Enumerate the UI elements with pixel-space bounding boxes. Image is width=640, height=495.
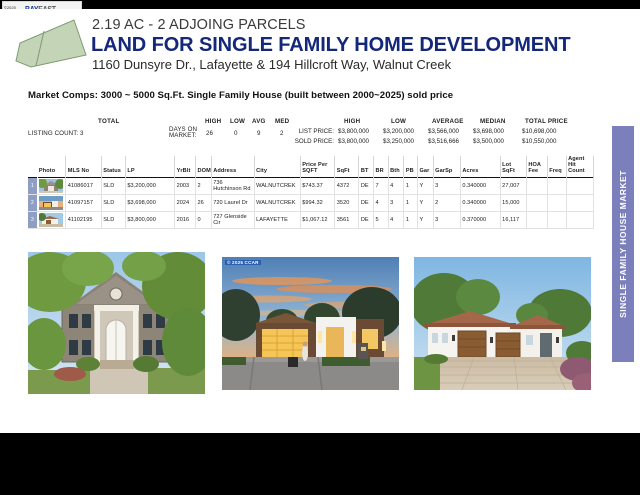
col-city[interactable]: City: [254, 156, 300, 177]
dom-header-low: LOW: [230, 118, 245, 125]
cell-yrblt: 2016: [175, 211, 196, 228]
col-bt[interactable]: BT: [359, 156, 374, 177]
dom-header-med: MED: [275, 118, 289, 125]
dom-value-avg: 9: [257, 130, 260, 137]
cell-sqft: 3520: [335, 194, 359, 211]
col-price-per-sqft[interactable]: Price Per SQFT: [300, 156, 335, 177]
row-thumbnail[interactable]: [37, 211, 65, 228]
cell-mls-no: 41097157: [66, 194, 102, 211]
page-title: LAND FOR SINGLE FAMILY HOME DEVELOPMENT: [91, 34, 570, 57]
cell-price-per-sqft: $994.32: [300, 194, 335, 211]
col-br[interactable]: BR: [373, 156, 388, 177]
cell-mls-no: 41086017: [66, 177, 102, 194]
cell-pb: 1: [404, 177, 418, 194]
list-price-median: $3,698,000: [473, 128, 504, 135]
listing-count: LISTING COUNT: 3: [28, 130, 84, 137]
cell-hoa-fee: [526, 211, 547, 228]
table-row[interactable]: 141086017SLD$3,200,00020032736 Hutchinso…: [28, 177, 594, 194]
col-mls-no[interactable]: MLS No: [66, 156, 102, 177]
price-header-low: LOW: [391, 118, 406, 125]
cell-agent-hit-count: [566, 177, 593, 194]
dom-value-med: 2: [280, 130, 283, 137]
cell-city: WALNUTCREK: [254, 177, 300, 194]
photo-3-image: [414, 257, 591, 390]
cell-address: 727 Glenside Cir: [211, 211, 254, 228]
table-header-row: Photo MLS No Status LP YrBlt DOM Address…: [28, 156, 594, 177]
cell-dom: 0: [196, 211, 212, 228]
cell-status: SLD: [101, 194, 125, 211]
photo-gallery: © 2025 CCAR: [28, 252, 594, 397]
list-price-label: LIST PRICE:: [286, 128, 334, 135]
cell-pb: 1: [404, 194, 418, 211]
cell-yrblt: 2024: [175, 194, 196, 211]
cell-freq: [547, 211, 566, 228]
cell-gar: Y: [417, 177, 433, 194]
cell-dom: 2: [196, 177, 212, 194]
cell-agent-hit-count: [566, 194, 593, 211]
table-body: 141086017SLD$3,200,00020032736 Hutchinso…: [28, 177, 594, 228]
cell-sqft: 3561: [335, 211, 359, 228]
price-header-median: MEDIAN: [480, 118, 506, 125]
col-photo[interactable]: Photo: [37, 156, 65, 177]
cell-bth: 4: [388, 211, 404, 228]
col-gar[interactable]: Gar: [417, 156, 433, 177]
col-yrblt[interactable]: YrBlt: [175, 156, 196, 177]
cell-gar: Y: [417, 194, 433, 211]
sold-price-label: SOLD PRICE:: [282, 138, 334, 145]
cell-status: SLD: [101, 177, 125, 194]
photo-1-image: [28, 252, 205, 394]
photo-727-glenside-cir[interactable]: [414, 257, 591, 390]
price-header-total: TOTAL PRICE: [525, 118, 568, 125]
sold-price-low: $3,250,000: [383, 138, 414, 145]
cell-acres: 0.340000: [460, 177, 500, 194]
bottom-black-band: [0, 433, 640, 495]
cell-garsp: 3: [433, 177, 460, 194]
list-price-total: $10,698,000: [522, 128, 556, 135]
days-on-market-label: DAYS ON MARKET:: [169, 127, 203, 139]
cell-garsp: 2: [433, 194, 460, 211]
dom-value-high: 26: [206, 130, 213, 137]
row-thumbnail[interactable]: [37, 177, 65, 194]
list-price-low: $3,200,000: [383, 128, 414, 135]
row-number: 2: [28, 194, 37, 211]
top-black-band: [0, 0, 640, 9]
market-comps-title: Market Comps: 3000 ~ 5000 Sq.Ft. Single …: [28, 90, 453, 101]
cell-sqft: 4372: [335, 177, 359, 194]
sold-price-high: $3,800,000: [338, 138, 369, 145]
sidebar-label: SINGLE FAMILY HOUSE MARKET: [618, 170, 628, 318]
col-address[interactable]: Address: [211, 156, 254, 177]
cell-bth: 4: [388, 177, 404, 194]
cell-lp: $3,200,000: [125, 177, 174, 194]
cell-bth: 3: [388, 194, 404, 211]
price-header-average: AVERAGE: [432, 118, 464, 125]
photo-2-image: [222, 257, 399, 390]
col-lot-sqft[interactable]: Lot SqFt: [500, 156, 526, 177]
sold-price-total: $10,550,000: [522, 138, 556, 145]
col-garsp[interactable]: GarSp: [433, 156, 460, 177]
col-bth[interactable]: Bth: [388, 156, 404, 177]
row-thumbnail[interactable]: [37, 194, 65, 211]
cell-freq: [547, 194, 566, 211]
col-acres[interactable]: Acres: [460, 156, 500, 177]
cell-address: 736 Hutchinson Rd: [211, 177, 254, 194]
cell-yrblt: 2003: [175, 177, 196, 194]
col-status[interactable]: Status: [101, 156, 125, 177]
col-lp[interactable]: LP: [125, 156, 174, 177]
table-row[interactable]: 341102195SLD$3,800,00020160727 Glenside …: [28, 211, 594, 228]
dom-header-avg: AVG: [252, 118, 266, 125]
dom-header-high: HIGH: [205, 118, 221, 125]
cell-mls-no: 41102195: [66, 211, 102, 228]
table-row[interactable]: 241097157SLD$3,698,000202426720 Laurel D…: [28, 194, 594, 211]
cell-lot-sqft: 27,007: [500, 177, 526, 194]
cell-status: SLD: [101, 211, 125, 228]
dom-value-low: 0: [234, 130, 237, 137]
photo-720-laurel-dr[interactable]: © 2025 CCAR: [222, 257, 399, 390]
sold-price-median: $3,500,000: [473, 138, 504, 145]
cell-hoa-fee: [526, 194, 547, 211]
cell-freq: [547, 177, 566, 194]
photo-736-hutchinson-rd[interactable]: [28, 252, 205, 394]
cell-gar: Y: [417, 211, 433, 228]
cell-lot-sqft: 15,000: [500, 194, 526, 211]
cell-pb: 1: [404, 211, 418, 228]
sidebar-single-family-house-market[interactable]: SINGLE FAMILY HOUSE MARKET: [612, 126, 634, 362]
row-number: 3: [28, 211, 37, 228]
cell-lp: $3,698,000: [125, 194, 174, 211]
col-dom[interactable]: DOM: [196, 156, 212, 177]
col-agent-hit-count[interactable]: Agent Hit Count: [566, 156, 593, 177]
cell-price-per-sqft: $743.37: [300, 177, 335, 194]
comps-table[interactable]: Photo MLS No Status LP YrBlt DOM Address…: [28, 156, 594, 248]
summary-stats: TOTAL LISTING COUNT: 3 DAYS ON MARKET: H…: [28, 118, 588, 150]
cell-br: 7: [373, 177, 388, 194]
row-number: 1: [28, 177, 37, 194]
cell-city: WALNUTCREK: [254, 194, 300, 211]
cell-price-per-sqft: $1,067.12: [300, 211, 335, 228]
cell-lp: $3,800,000: [125, 211, 174, 228]
sold-price-average: $3,516,666: [428, 138, 459, 145]
col-freq[interactable]: Freq: [547, 156, 566, 177]
col-rownum: [28, 156, 37, 177]
col-pb[interactable]: PB: [404, 156, 418, 177]
cell-bt: DE: [359, 194, 374, 211]
col-sqft[interactable]: SqFt: [335, 156, 359, 177]
list-price-average: $3,566,000: [428, 128, 459, 135]
header-address: 1160 Dunsyre Dr., Lafayette & 194 Hillcr…: [92, 57, 451, 72]
cell-bt: DE: [359, 211, 374, 228]
cell-hoa-fee: [526, 177, 547, 194]
cell-acres: 0.370000: [460, 211, 500, 228]
cell-dom: 26: [196, 194, 212, 211]
cell-acres: 0.340000: [460, 194, 500, 211]
cell-address: 720 Laurel Dr: [211, 194, 254, 211]
listing-header: 2.19 AC - 2 ADJOING PARCELS LAND FOR SIN…: [0, 9, 640, 81]
photo-2-watermark: © 2025 CCAR: [225, 260, 261, 265]
cell-br: 5: [373, 211, 388, 228]
cell-city: LAFAYETTE: [254, 211, 300, 228]
cell-agent-hit-count: [566, 211, 593, 228]
list-price-high: $3,800,000: [338, 128, 369, 135]
cell-garsp: 3: [433, 211, 460, 228]
summary-total-label: TOTAL: [98, 118, 120, 125]
cell-br: 4: [373, 194, 388, 211]
price-header-high: HIGH: [344, 118, 360, 125]
parcel-shape-icon: [14, 17, 90, 75]
header-eyebrow: 2.19 AC - 2 ADJOING PARCELS: [92, 17, 306, 33]
cell-bt: DE: [359, 177, 374, 194]
cell-lot-sqft: 16,117: [500, 211, 526, 228]
dom-label-line2: MARKET:: [169, 132, 197, 139]
col-hoa-fee[interactable]: HOA Fee: [526, 156, 547, 177]
